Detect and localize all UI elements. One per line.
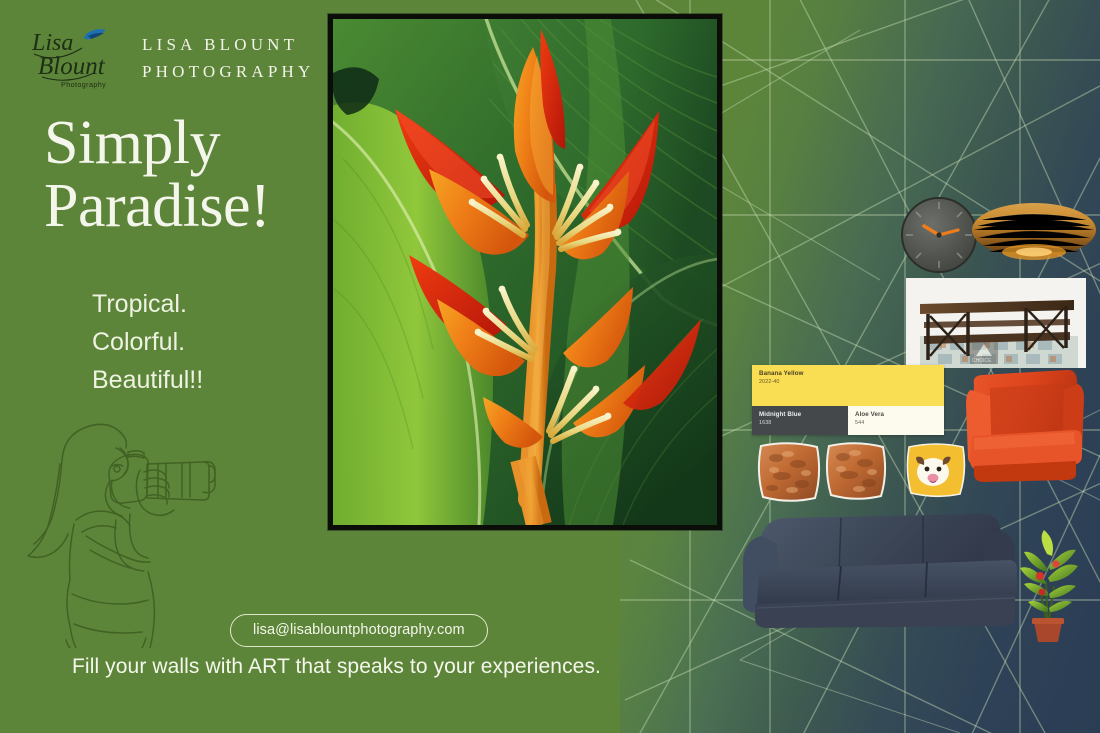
logo-script-mark: Lisa Blount Photography <box>28 24 124 92</box>
swatch-aloe-vera: Aloe Vera 544 <box>848 406 944 435</box>
moodboard-paint-swatch-card: Banana Yellow 2022-40 Midnight Blue 1638… <box>752 365 944 435</box>
subhead-line-2: Colorful. <box>92 323 203 361</box>
moodboard-throw-pillow-yellow <box>905 441 967 499</box>
poster-canvas: Lisa Blount Photography LISA BLOUNT PHOT… <box>0 0 1100 733</box>
swatch-code: 2022-40 <box>759 379 937 385</box>
moodboard-pendant-lamp <box>970 200 1098 262</box>
subhead-line-1: Tropical. <box>92 285 203 323</box>
moodboard-throw-pillow-rust-2 <box>824 440 888 502</box>
svg-text:CHOICE: CHOICE <box>972 358 992 364</box>
svg-text:Photography: Photography <box>61 80 106 89</box>
svg-text:Blount: Blount <box>38 53 106 80</box>
swatch-name: Midnight Blue <box>759 411 841 418</box>
subhead-line-3: Beautiful!! <box>92 361 203 399</box>
brand-wordmark: LISA BLOUNT PHOTOGRAPHY <box>142 31 314 85</box>
page-title: Simply Paradise! <box>44 112 270 238</box>
moodboard-wall-clock <box>900 196 978 274</box>
moodboard-throw-pillow-rust-1 <box>756 440 822 504</box>
swatch-name: Banana Yellow <box>759 370 937 377</box>
swatch-banana-yellow: Banana Yellow 2022-40 <box>752 365 944 406</box>
subheadline: Tropical. Colorful. Beautiful!! <box>92 285 203 399</box>
moodboard-console-table: CHOICE <box>906 278 1086 368</box>
email-contact-pill[interactable]: lisa@lisablountphotography.com <box>230 614 488 647</box>
swatch-code: 544 <box>855 420 937 426</box>
tagline-text: Fill your walls with ART that speaks to … <box>72 655 601 679</box>
photographer-line-illustration <box>16 408 231 648</box>
headline-line-2: Paradise! <box>44 175 270 238</box>
swatch-code: 1638 <box>759 420 841 426</box>
brand-name-line2: PHOTOGRAPHY <box>142 58 314 85</box>
swatch-midnight-blue: Midnight Blue 1638 <box>752 406 848 435</box>
moodboard-sofa <box>737 512 1019 628</box>
moodboard-armchair <box>962 366 1086 484</box>
brand-name-line1: LISA BLOUNT <box>142 31 314 58</box>
headline-line-1: Simply <box>44 112 270 175</box>
moodboard-potted-plant <box>1006 524 1090 644</box>
brand-logo: Lisa Blount Photography LISA BLOUNT PHOT… <box>28 24 314 92</box>
framed-photograph <box>328 14 722 530</box>
swatch-name: Aloe Vera <box>855 411 937 418</box>
